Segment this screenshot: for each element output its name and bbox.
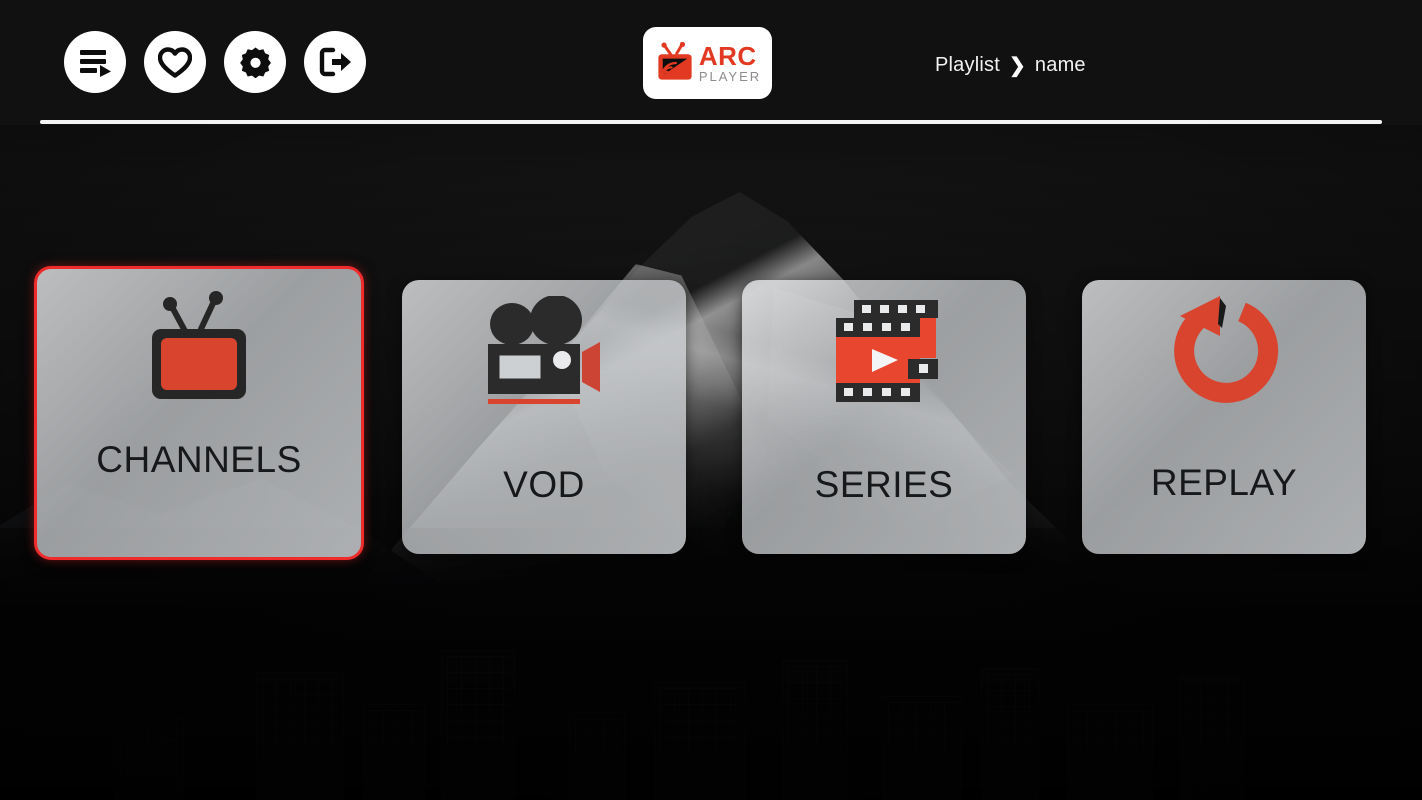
logout-icon[interactable] — [304, 31, 366, 93]
header-divider — [40, 120, 1382, 124]
logo-secondary-text: PLAYER — [699, 70, 761, 83]
app-header: ARC PLAYER Playlist ❯ name — [0, 0, 1422, 125]
breadcrumb-current: name — [1035, 54, 1086, 77]
tile-label: SERIES — [815, 464, 954, 506]
logo-wordmark: ARC PLAYER — [699, 43, 761, 83]
settings-icon[interactable] — [224, 31, 286, 93]
logo-primary-text: ARC — [699, 43, 761, 69]
film-strip-play-icon — [820, 294, 948, 414]
tile-label: CHANNELS — [96, 439, 302, 481]
movie-camera-icon — [476, 296, 612, 418]
breadcrumb[interactable]: Playlist ❯ name — [935, 53, 1086, 78]
tile-label: VOD — [503, 464, 585, 506]
rotate-left-icon — [1164, 294, 1284, 416]
breadcrumb-root: Playlist — [935, 54, 1000, 77]
tv-wifi-icon — [654, 42, 696, 84]
playlist-icon[interactable] — [64, 31, 126, 93]
header-icon-group — [64, 31, 366, 93]
tile-replay[interactable]: REPLAY — [1082, 280, 1366, 554]
tile-series[interactable]: SERIES — [742, 280, 1026, 554]
retro-tv-icon — [139, 291, 259, 407]
chevron-right-icon: ❯ — [1009, 53, 1026, 78]
tile-label: REPLAY — [1151, 462, 1297, 504]
tile-channels[interactable]: CHANNELS — [34, 266, 364, 560]
app-logo: ARC PLAYER — [643, 27, 772, 99]
favorites-icon[interactable] — [144, 31, 206, 93]
tile-vod[interactable]: VOD — [402, 280, 686, 554]
